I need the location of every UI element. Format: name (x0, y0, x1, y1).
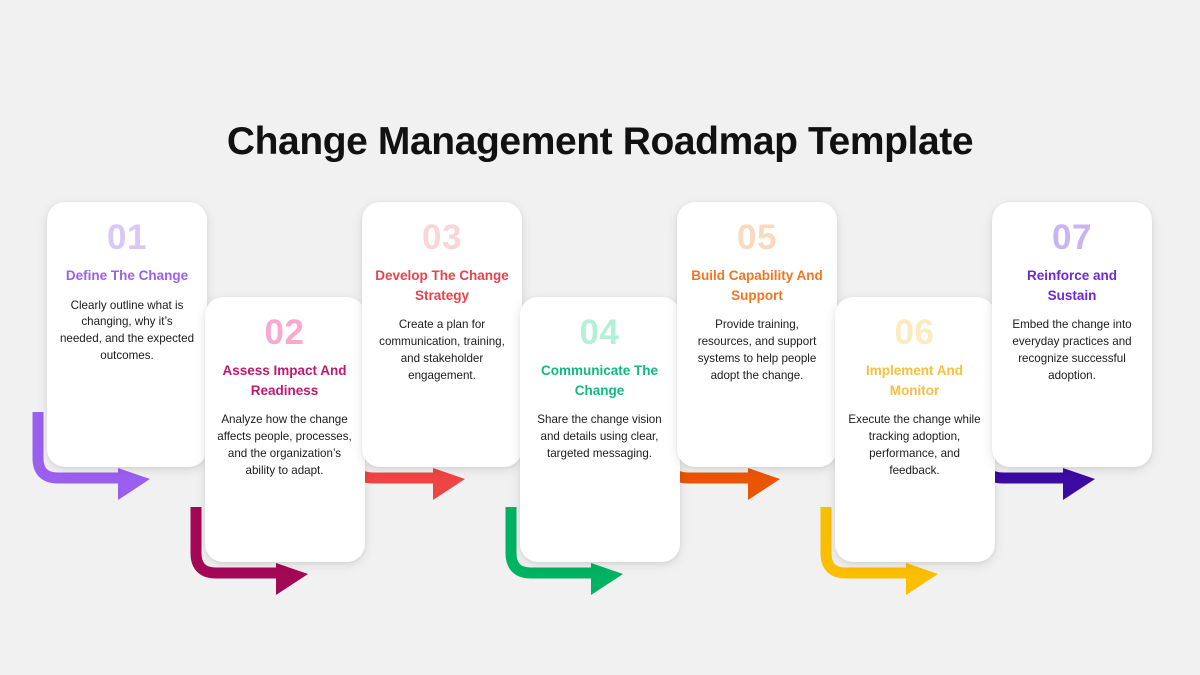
arrow-head-icon (433, 468, 465, 500)
step-title: Develop The Change Strategy (374, 266, 510, 305)
step-description: Provide training, resources, and support… (689, 317, 825, 384)
step-number: 07 (1004, 220, 1140, 255)
step-title: Assess Impact And Readiness (217, 361, 353, 400)
step-card-04[interactable]: 04Communicate The ChangeShare the change… (520, 297, 680, 562)
step-title: Communicate The Change (532, 361, 668, 400)
step-number: 05 (689, 220, 825, 255)
arrow-head-icon (591, 563, 623, 595)
step-title: Define The Change (59, 266, 195, 286)
step-card-06[interactable]: 06Implement And MonitorExecute the chang… (835, 297, 995, 562)
step-number: 06 (847, 315, 983, 350)
slide-canvas: Change Management Roadmap Template 01Def… (0, 0, 1200, 675)
step-number: 04 (532, 315, 668, 350)
step-card-05[interactable]: 05Build Capability And SupportProvide tr… (677, 202, 837, 467)
step-description: Analyze how the change affects people, p… (217, 412, 353, 479)
arrow-head-icon (1063, 468, 1095, 500)
step-title: Reinforce and Sustain (1004, 266, 1140, 305)
page-title: Change Management Roadmap Template (0, 120, 1200, 164)
step-description: Share the change vision and details usin… (532, 412, 668, 462)
arrow-head-icon (118, 468, 150, 500)
step-card-01[interactable]: 01Define The ChangeClearly outline what … (47, 202, 207, 467)
arrow-head-icon (906, 563, 938, 595)
step-description: Clearly outline what is changing, why it… (59, 298, 195, 365)
step-description: Execute the change while tracking adopti… (847, 412, 983, 479)
step-title: Implement And Monitor (847, 361, 983, 400)
step-description: Create a plan for communication, trainin… (374, 317, 510, 384)
step-number: 01 (59, 220, 195, 255)
arrow-head-icon (276, 563, 308, 595)
arrow-head-icon (748, 468, 780, 500)
step-number: 03 (374, 220, 510, 255)
step-card-02[interactable]: 02Assess Impact And ReadinessAnalyze how… (205, 297, 365, 562)
step-title: Build Capability And Support (689, 266, 825, 305)
step-description: Embed the change into everyday practices… (1004, 317, 1140, 384)
step-card-07[interactable]: 07Reinforce and SustainEmbed the change … (992, 202, 1152, 467)
step-card-03[interactable]: 03Develop The Change StrategyCreate a pl… (362, 202, 522, 467)
step-number: 02 (217, 315, 353, 350)
